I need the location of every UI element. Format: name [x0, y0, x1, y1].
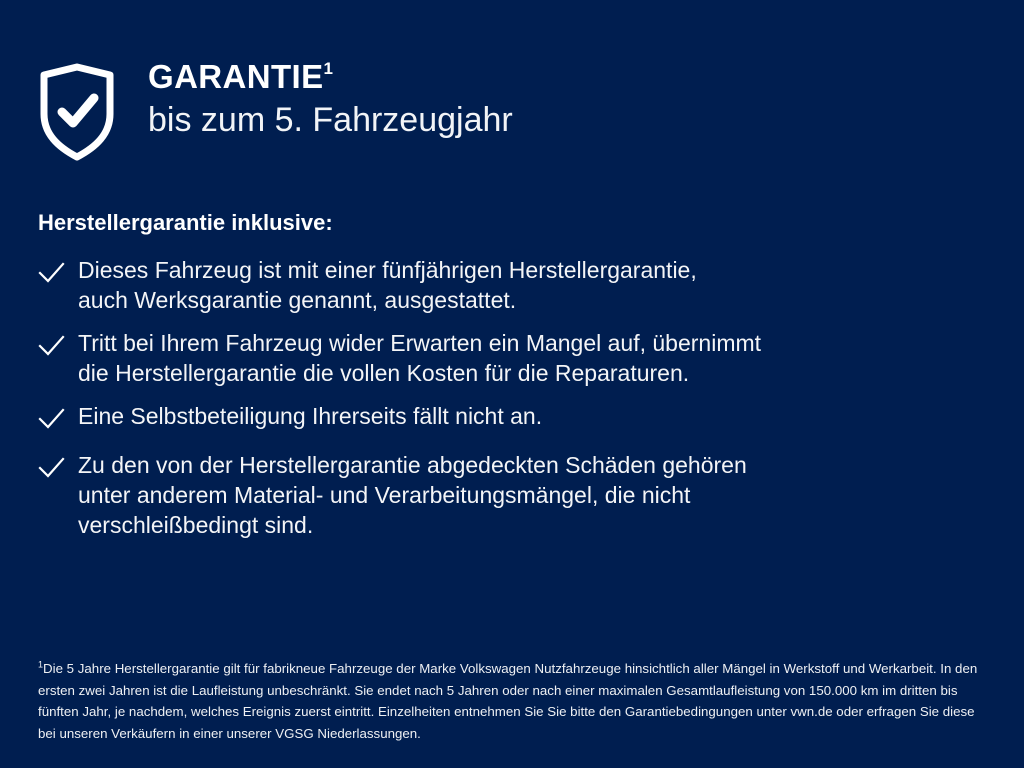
check-icon	[38, 335, 78, 365]
check-icon	[38, 457, 78, 487]
list-item-label: Dieses Fahrzeug ist mit einer fünfjährig…	[78, 256, 697, 316]
footnote-text: Die 5 Jahre Herstellergarantie gilt für …	[38, 661, 977, 741]
footnote: 1Die 5 Jahre Herstellergarantie gilt für…	[38, 658, 990, 744]
warranty-slide: GARANTIE1 bis zum 5. Fahrzeugjahr Herste…	[0, 0, 1024, 768]
list-item: Zu den von der Herstellergarantie abgede…	[38, 451, 968, 541]
shield-check-icon	[38, 62, 116, 162]
check-icon	[38, 408, 78, 438]
header-text: GARANTIE1 bis zum 5. Fahrzeugjahr	[148, 58, 513, 139]
list-item: Dieses Fahrzeug ist mit einer fünfjährig…	[38, 256, 968, 316]
check-icon	[38, 262, 78, 292]
list-item: Eine Selbstbeteiligung Ihrerseits fällt …	[38, 402, 968, 438]
page-title-text: GARANTIE	[148, 58, 324, 95]
header: GARANTIE1 bis zum 5. Fahrzeugjahr	[38, 58, 513, 162]
list-item-label: Tritt bei Ihrem Fahrzeug wider Erwarten …	[78, 329, 761, 389]
page-title-superscript: 1	[324, 59, 334, 78]
benefits-list: Dieses Fahrzeug ist mit einer fünfjährig…	[38, 256, 968, 540]
page-title: GARANTIE1	[148, 60, 513, 95]
page-subtitle: bis zum 5. Fahrzeugjahr	[148, 101, 513, 139]
list-item: Tritt bei Ihrem Fahrzeug wider Erwarten …	[38, 329, 968, 389]
list-item-label: Zu den von der Herstellergarantie abgede…	[78, 451, 747, 541]
list-item-label: Eine Selbstbeteiligung Ihrerseits fällt …	[78, 402, 542, 432]
section-heading: Herstellergarantie inklusive:	[38, 210, 968, 236]
content-block: Herstellergarantie inklusive: Dieses Fah…	[38, 210, 968, 541]
